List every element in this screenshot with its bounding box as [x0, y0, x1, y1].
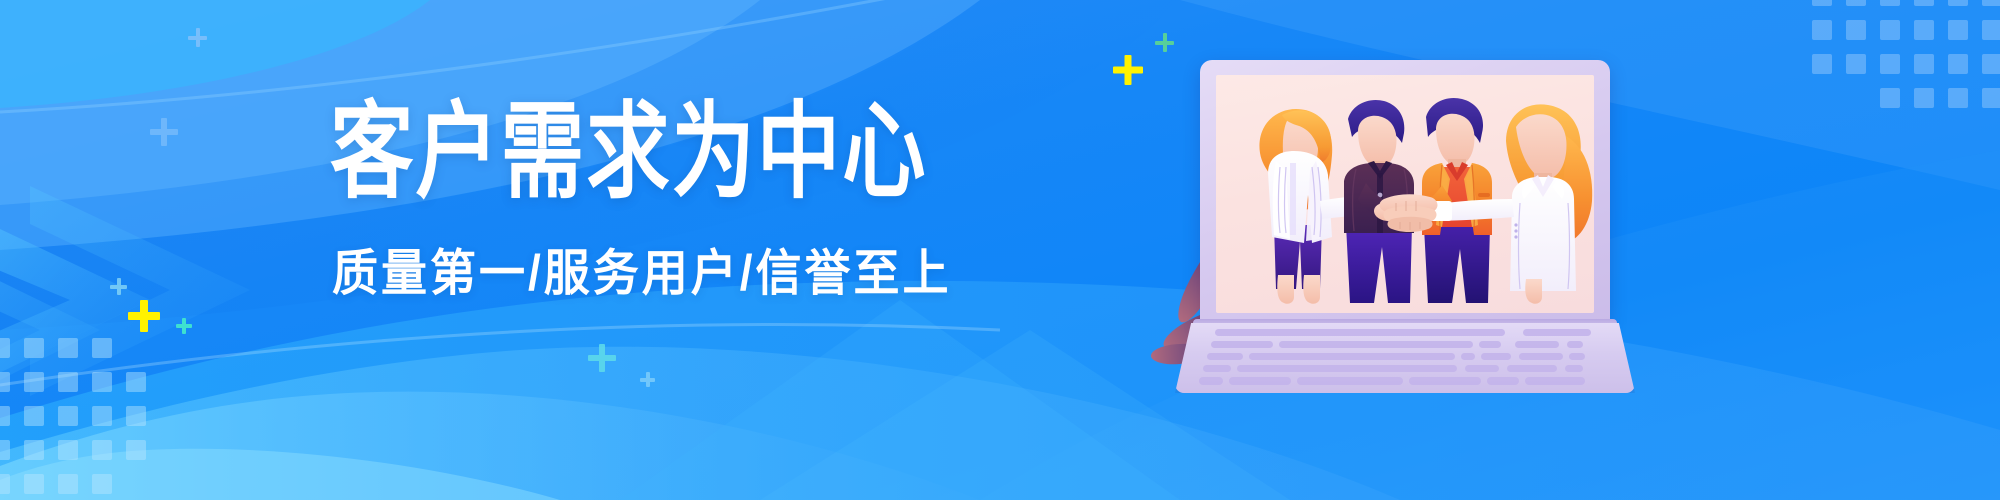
key — [1199, 377, 1223, 385]
key — [1515, 341, 1559, 348]
key — [1523, 329, 1591, 336]
headline-block: 客户需求为中心 质量第一/服务用户/信誉至上 — [330, 100, 950, 330]
plus-cyan-far-bottom-icon — [588, 344, 616, 372]
key — [1237, 365, 1457, 372]
background-waves — [0, 0, 2000, 500]
laptop-illustration — [1175, 60, 1635, 390]
grid-bottom-left — [0, 336, 201, 500]
key — [1409, 377, 1481, 385]
laptop-keyboard-base — [1175, 323, 1635, 393]
plus-soft-bottom-icon — [110, 278, 127, 295]
key — [1481, 353, 1511, 360]
spacebar-key — [1297, 377, 1403, 385]
key — [1487, 377, 1519, 385]
promotional-banner: 客户需求为中心 质量第一/服务用户/信誉至上 — [0, 0, 2000, 500]
plus-soft-far-bottom-icon — [640, 372, 655, 387]
plus-yellow-bottom-icon — [128, 300, 160, 332]
plus-soft-upper-icon — [188, 28, 207, 47]
key — [1565, 365, 1583, 372]
plus-soft-mid-icon — [150, 118, 178, 146]
key — [1461, 353, 1475, 360]
key — [1215, 329, 1505, 336]
key — [1507, 365, 1557, 372]
page-subtitle: 质量第一/服务用户/信誉至上 — [332, 248, 952, 298]
plus-yellow-top-icon — [1113, 55, 1143, 85]
key — [1525, 377, 1585, 385]
key — [1567, 341, 1583, 348]
key — [1279, 341, 1473, 348]
grid-top-right — [1808, 0, 2000, 124]
plus-cyan-bottom-icon — [176, 318, 192, 334]
key — [1229, 377, 1291, 385]
laptop-screen — [1216, 75, 1594, 313]
key — [1569, 353, 1585, 360]
laptop-lid — [1200, 60, 1610, 325]
key — [1211, 341, 1273, 348]
key — [1479, 341, 1501, 348]
key — [1207, 353, 1243, 360]
page-title: 客户需求为中心 — [330, 100, 931, 205]
team-illustration — [1216, 75, 1594, 313]
key — [1249, 353, 1455, 360]
key — [1519, 353, 1563, 360]
plus-cyan-top-icon — [1155, 33, 1174, 52]
key — [1465, 365, 1499, 372]
key — [1203, 365, 1231, 372]
